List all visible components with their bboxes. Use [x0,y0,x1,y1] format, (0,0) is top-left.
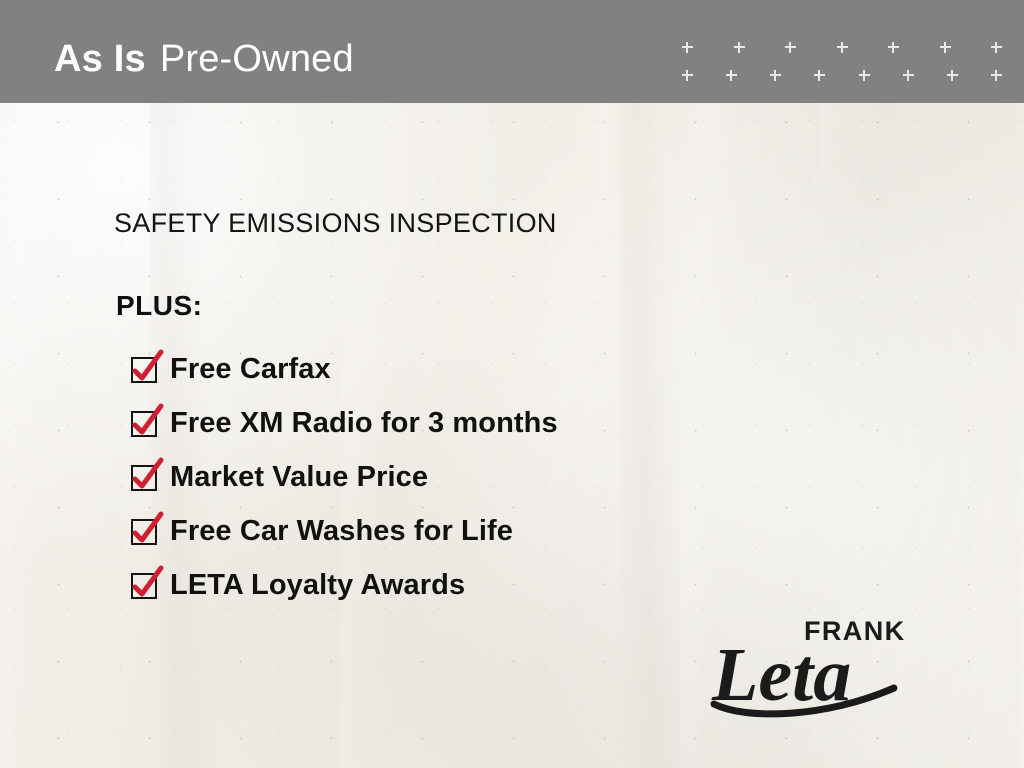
plus-icon [947,70,958,81]
checked-checkbox-icon [132,466,156,490]
plus-icon [682,70,693,81]
page-title: As IsPre-Owned [54,37,354,81]
page-title-light: Pre-Owned [160,38,354,80]
checked-checkbox-icon [132,358,156,382]
plus-icon [682,42,693,53]
svg-text:Leta: Leta [711,633,851,717]
list-item-label: Free XM Radio for 3 months [170,407,558,440]
page-title-strong: As Is [54,38,146,80]
list-item: Market Value Price [132,450,914,504]
plus-icon [734,42,745,53]
plus-pattern-row-bottom [682,70,1024,84]
plus-icon [991,42,1002,53]
plus-icon [859,70,870,81]
plus-icon [940,42,951,53]
checked-checkbox-icon [132,520,156,544]
plus-icon [814,70,825,81]
plus-icon [903,70,914,81]
plus-icon [888,42,899,53]
slide-content: SAFETY EMISSIONS INSPECTION PLUS: Free C… [114,208,914,612]
benefits-list: Free Carfax Free XM Radio for 3 months [114,342,914,612]
list-item-label: LETA Loyalty Awards [170,569,465,602]
plus-icon [726,70,737,81]
list-item: Free Carfax [132,342,914,396]
list-item: Free XM Radio for 3 months [132,396,914,450]
plus-icon [770,70,781,81]
checked-checkbox-icon [132,412,156,436]
list-item: LETA Loyalty Awards [132,558,914,612]
plus-icon [785,42,796,53]
plus-icon [991,70,1002,81]
plus-label: PLUS: [116,290,914,322]
list-item-label: Free Carfax [170,353,331,386]
checked-checkbox-icon [132,574,156,598]
slide: As IsPre-Owned [0,0,1024,768]
list-item-label: Market Value Price [170,461,428,494]
header-band: As IsPre-Owned [0,0,1024,103]
plus-pattern-row-top [682,42,1006,56]
list-item: Free Car Washes for Life [132,504,914,558]
plus-pattern-icon [682,38,1002,90]
list-item-label: Free Car Washes for Life [170,515,513,548]
subheading: SAFETY EMISSIONS INSPECTION [114,208,914,239]
plus-icon [837,42,848,53]
frank-leta-logo: FRANK Leta [706,608,916,720]
